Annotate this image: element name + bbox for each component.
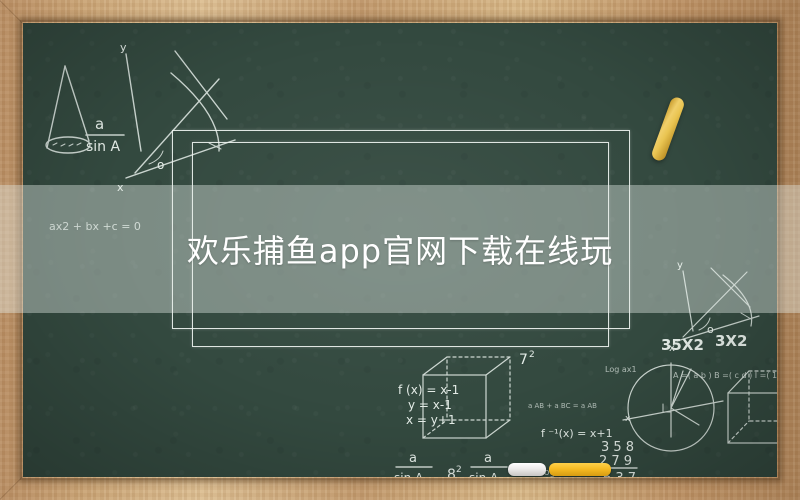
chalkboard-banner: a sin A y x o ax2 + bx +c = 0 y [0, 0, 800, 500]
title-banner: 欢乐捕鱼app官网下载在线玩 [0, 185, 800, 313]
page-title: 欢乐捕鱼app官网下载在线玩 [187, 226, 613, 272]
